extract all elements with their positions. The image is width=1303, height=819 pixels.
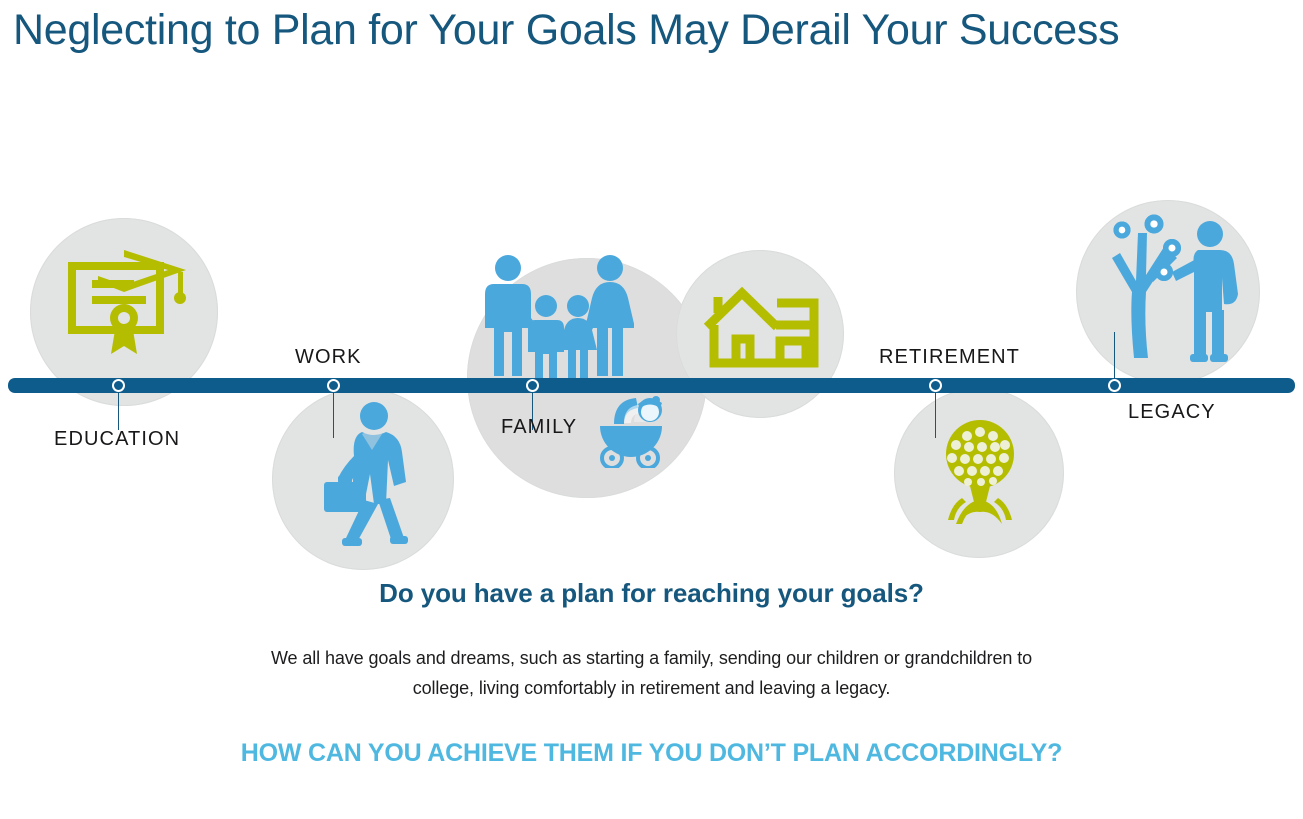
timeline-label-education: EDUCATION — [54, 428, 180, 451]
diploma-graduation-cap-icon — [62, 246, 190, 356]
bottom-section: Do you have a plan for reaching your goa… — [0, 578, 1303, 768]
businessman-briefcase-icon — [318, 400, 422, 546]
family-of-four-icon — [484, 254, 634, 378]
timeline-label-retirement: RETIREMENT — [879, 346, 1020, 369]
timeline-label-legacy: LEGACY — [1128, 401, 1216, 424]
baby-stroller-icon — [594, 396, 676, 468]
golf-ball-tee-icon — [940, 416, 1020, 526]
milestone-marker-education[interactable] — [112, 379, 125, 392]
sub-heading: Do you have a plan for reaching your goa… — [0, 578, 1303, 609]
person-planting-tree-icon — [1098, 208, 1248, 364]
house-icon — [702, 283, 820, 369]
milestone-marker-work[interactable] — [327, 379, 340, 392]
milestone-marker-family[interactable] — [526, 379, 539, 392]
milestone-marker-legacy[interactable] — [1108, 379, 1121, 392]
milestone-marker-retirement[interactable] — [929, 379, 942, 392]
timeline-label-family: FAMILY — [501, 416, 577, 439]
timeline-label-work: WORK — [295, 346, 362, 369]
tick-retirement — [935, 386, 936, 438]
timeline: EDUCATION WORK FAMILY RETIREMENT LEGACY — [0, 150, 1303, 570]
body-copy: We all have goals and dreams, such as st… — [252, 643, 1052, 703]
cta-text: HOW CAN YOU ACHIEVE THEM IF YOU DON’T PL… — [0, 739, 1303, 768]
page-title: Neglecting to Plan for Your Goals May De… — [13, 6, 1119, 55]
timeline-bar — [8, 378, 1295, 393]
